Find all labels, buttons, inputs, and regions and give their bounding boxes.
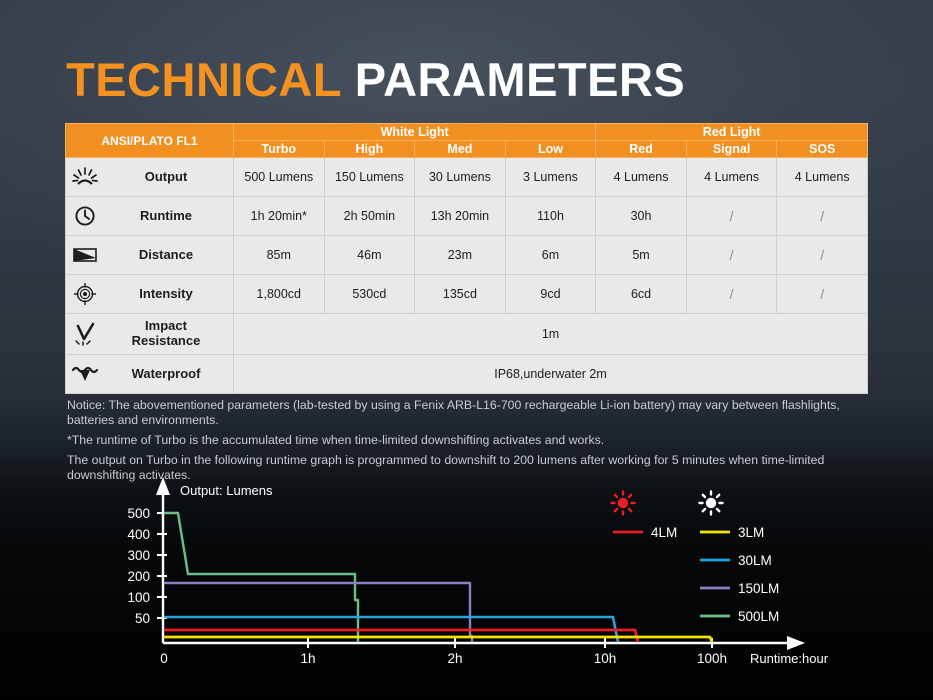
legend-entry-3lm: 3LM bbox=[700, 525, 764, 540]
x-tick-100h: 100h bbox=[697, 651, 727, 666]
row-label-waterproof-text: Waterproof bbox=[108, 367, 232, 382]
mode-header-turbo: Turbo bbox=[234, 141, 325, 158]
cell-impact-resistance-value: 1m bbox=[234, 314, 868, 355]
x-tick-0: 0 bbox=[160, 651, 168, 666]
waterproof-icon bbox=[68, 364, 102, 384]
x-tick-10h: 10h bbox=[594, 651, 617, 666]
legend-label-30lm: 30LM bbox=[738, 553, 772, 568]
x-axis-label: Runtime:hour bbox=[750, 651, 829, 666]
cell-runtime-sos: / bbox=[777, 197, 868, 236]
y-axis-label: Output: Lumens bbox=[180, 483, 273, 498]
cell-runtime-med: 13h 20min bbox=[415, 197, 506, 236]
page-title: TECHNICAL PARAMETERS bbox=[66, 56, 685, 103]
cell-runtime-signal: / bbox=[686, 197, 777, 236]
white-sun-icon bbox=[700, 492, 723, 515]
y-tick-200: 200 bbox=[127, 569, 150, 584]
legend-label-3lm: 3LM bbox=[738, 525, 764, 540]
row-label-distance: Distance bbox=[66, 236, 234, 275]
page-title-part2: PARAMETERS bbox=[355, 53, 686, 106]
cell-distance-red: 5m bbox=[596, 236, 687, 275]
y-tick-500: 500 bbox=[127, 506, 150, 521]
cell-output-med: 30 Lumens bbox=[415, 158, 506, 197]
mode-header-med: Med bbox=[415, 141, 506, 158]
cell-intensity-red: 6cd bbox=[596, 275, 687, 314]
cell-runtime-low: 110h bbox=[505, 197, 596, 236]
cell-distance-low: 6m bbox=[505, 236, 596, 275]
cell-distance-sos: / bbox=[777, 236, 868, 275]
group-header-white-light: White Light bbox=[234, 124, 596, 141]
spec-table-head: ANSI/PLATO FL1 White Light Red Light Tur… bbox=[66, 124, 868, 158]
series-line-3lm bbox=[164, 637, 712, 642]
legend-label-500lm: 500LM bbox=[738, 609, 779, 624]
runtime-chart: Output: Lumens 500 400 300 200 100 50 bbox=[0, 470, 933, 700]
cell-distance-high: 46m bbox=[324, 236, 415, 275]
cell-distance-turbo: 85m bbox=[234, 236, 325, 275]
cell-distance-signal: / bbox=[686, 236, 777, 275]
spec-table-body: Output 500 Lumens 150 Lumens 30 Lumens 3… bbox=[66, 158, 868, 394]
cell-intensity-high: 530cd bbox=[324, 275, 415, 314]
cell-waterproof-value: IP68,underwater 2m bbox=[234, 355, 868, 394]
cell-output-high: 150 Lumens bbox=[324, 158, 415, 197]
row-label-intensity-text: Intensity bbox=[108, 287, 232, 302]
cell-runtime-high: 2h 50min bbox=[324, 197, 415, 236]
technical-parameters-page: TECHNICAL PARAMETERS ANSI/PLATO FL1 Whit… bbox=[0, 0, 933, 700]
cell-runtime-turbo: 1h 20min* bbox=[234, 197, 325, 236]
red-sun-icon bbox=[612, 492, 635, 515]
cell-distance-med: 23m bbox=[415, 236, 506, 275]
table-row-intensity: Intensity 1,800cd 530cd 135cd 9cd 6cd / … bbox=[66, 275, 868, 314]
mode-header-sos: SOS bbox=[777, 141, 868, 158]
table-row-waterproof: Waterproof IP68,underwater 2m bbox=[66, 355, 868, 394]
cell-intensity-sos: / bbox=[777, 275, 868, 314]
cell-runtime-red: 30h bbox=[596, 197, 687, 236]
group-header-red-light: Red Light bbox=[596, 124, 868, 141]
y-tick-400: 400 bbox=[127, 527, 150, 542]
cell-output-red: 4 Lumens bbox=[596, 158, 687, 197]
x-tick-1h: 1h bbox=[300, 651, 315, 666]
mode-header-high: High bbox=[324, 141, 415, 158]
mode-header-low: Low bbox=[505, 141, 596, 158]
legend-label-4lm: 4LM bbox=[651, 525, 677, 540]
legend-entry-150lm: 150LM bbox=[700, 581, 779, 596]
mode-header-signal: Signal bbox=[686, 141, 777, 158]
table-row-distance: Distance 85m 46m 23m 6m 5m / / bbox=[66, 236, 868, 275]
x-tick-2h: 2h bbox=[447, 651, 462, 666]
row-label-output: Output bbox=[66, 158, 234, 197]
row-label-impact-resistance-text: Impact Resistance bbox=[108, 319, 232, 348]
legend-entry-500lm: 500LM bbox=[700, 609, 779, 624]
spec-table: ANSI/PLATO FL1 White Light Red Light Tur… bbox=[65, 123, 868, 394]
y-tick-50: 50 bbox=[135, 611, 150, 626]
cell-output-low: 3 Lumens bbox=[505, 158, 596, 197]
page-title-part1: TECHNICAL bbox=[66, 53, 341, 106]
ansi-plato-label: ANSI/PLATO FL1 bbox=[66, 124, 234, 158]
table-row-output: Output 500 Lumens 150 Lumens 30 Lumens 3… bbox=[66, 158, 868, 197]
row-label-runtime-text: Runtime bbox=[108, 209, 232, 224]
legend-entry-30lm: 30LM bbox=[700, 553, 772, 568]
y-tick-100: 100 bbox=[127, 590, 150, 605]
table-row-impact-resistance: Impact Resistance 1m bbox=[66, 314, 868, 355]
row-label-output-text: Output bbox=[108, 170, 232, 185]
y-tick-300: 300 bbox=[127, 548, 150, 563]
sunburst-icon bbox=[68, 167, 102, 187]
impact-resistance-icon bbox=[68, 322, 102, 346]
row-label-impact-resistance: Impact Resistance bbox=[66, 314, 234, 355]
cell-intensity-turbo: 1,800cd bbox=[234, 275, 325, 314]
notice-line-2: *The runtime of Turbo is the accumulated… bbox=[67, 433, 867, 448]
cell-intensity-med: 135cd bbox=[415, 275, 506, 314]
group-header-row: ANSI/PLATO FL1 White Light Red Light bbox=[66, 124, 868, 141]
row-label-intensity: Intensity bbox=[66, 275, 234, 314]
notice-line-1: Notice: The abovementioned parameters (l… bbox=[67, 398, 867, 428]
cell-intensity-low: 9cd bbox=[505, 275, 596, 314]
cell-output-turbo: 500 Lumens bbox=[234, 158, 325, 197]
series-line-150lm bbox=[164, 583, 472, 642]
legend-label-150lm: 150LM bbox=[738, 581, 779, 596]
row-label-runtime: Runtime bbox=[66, 197, 234, 236]
mode-header-red: Red bbox=[596, 141, 687, 158]
series-line-500lm bbox=[164, 513, 358, 642]
legend-entry-4lm: 4LM bbox=[613, 525, 677, 540]
cell-output-signal: 4 Lumens bbox=[686, 158, 777, 197]
cell-output-sos: 4 Lumens bbox=[777, 158, 868, 197]
cell-intensity-signal: / bbox=[686, 275, 777, 314]
row-label-waterproof: Waterproof bbox=[66, 355, 234, 394]
target-intensity-icon bbox=[68, 282, 102, 306]
table-row-runtime: Runtime 1h 20min* 2h 50min 13h 20min 110… bbox=[66, 197, 868, 236]
row-label-distance-text: Distance bbox=[108, 248, 232, 263]
spec-table-wrapper: ANSI/PLATO FL1 White Light Red Light Tur… bbox=[65, 123, 868, 394]
clock-icon bbox=[68, 205, 102, 227]
beam-distance-icon bbox=[68, 245, 102, 265]
